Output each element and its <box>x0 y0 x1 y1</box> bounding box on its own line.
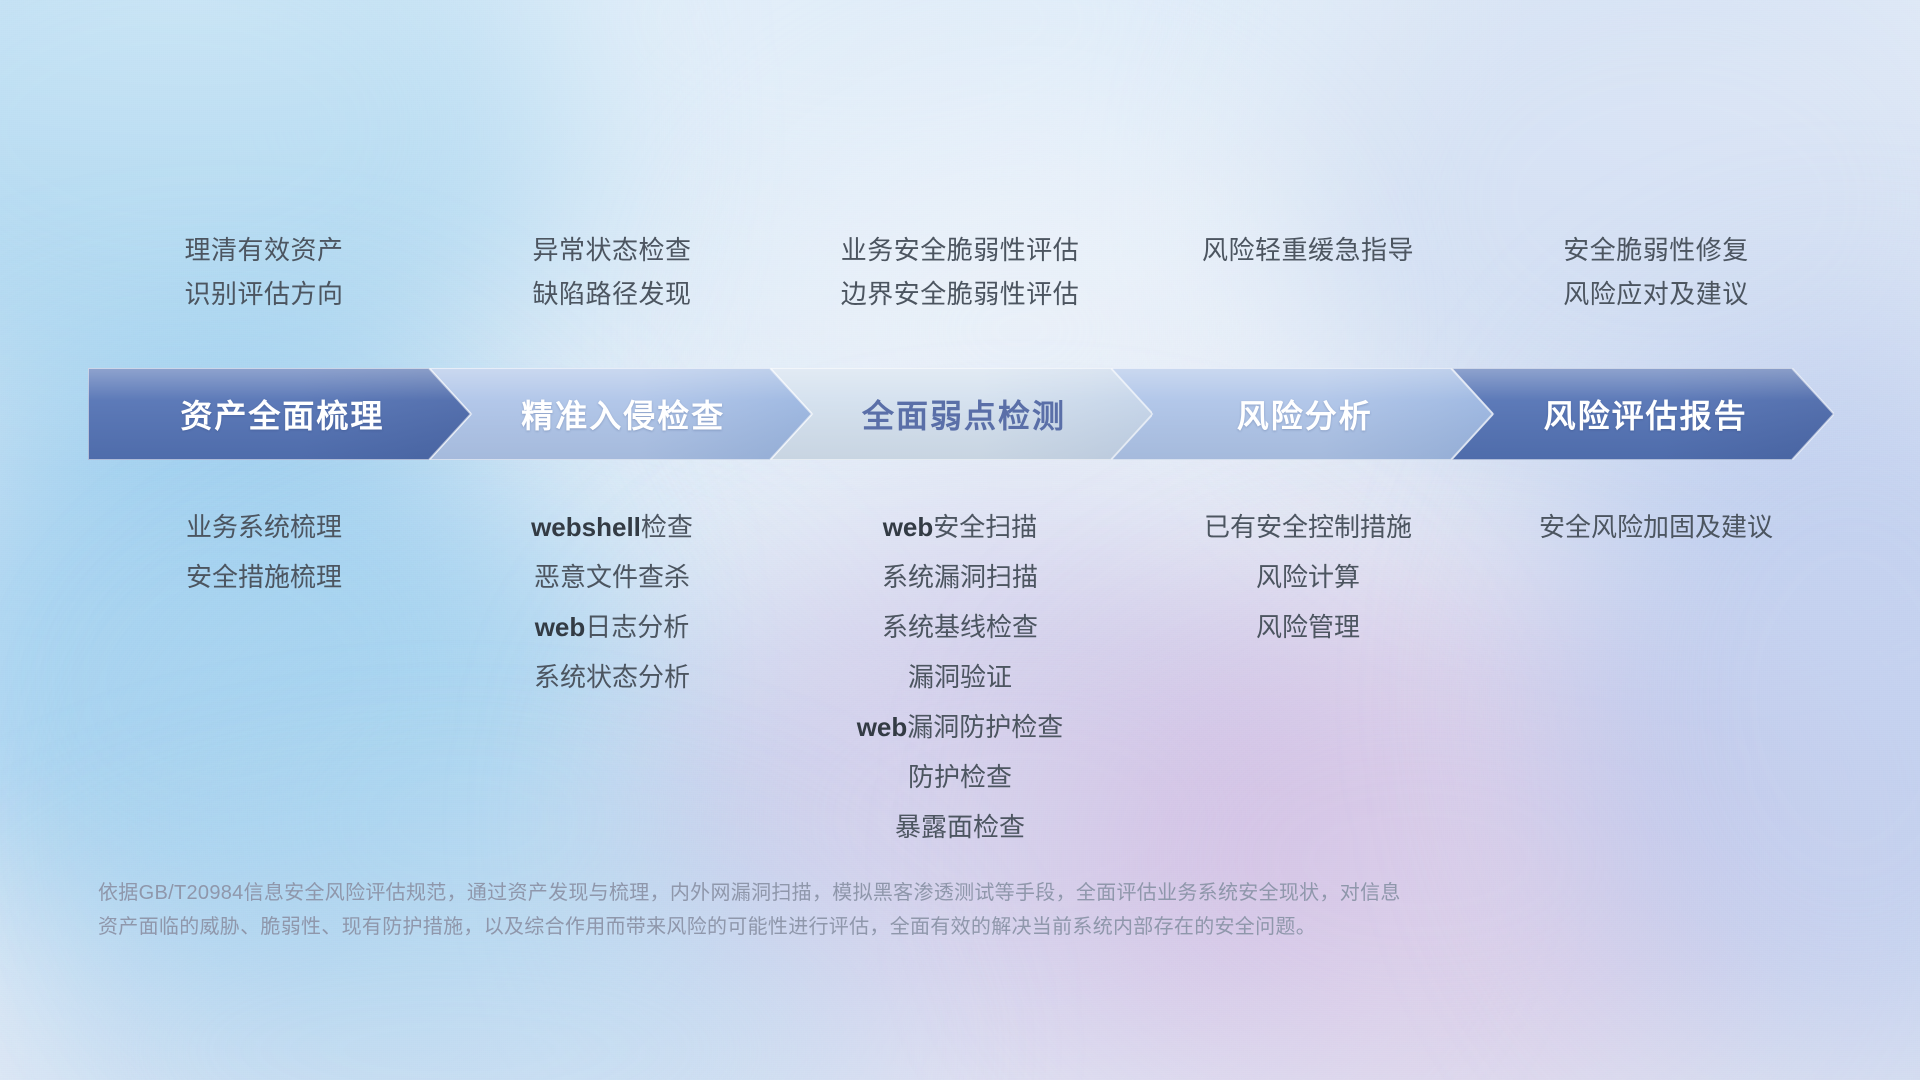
top-caption-col-risk-report: 安全脆弱性修复风险应对及建议 <box>1482 228 1830 316</box>
bottom-caption: 防护检查 <box>786 752 1134 802</box>
top-caption: 异常状态检查 <box>438 228 786 272</box>
bottom-caption-text: 漏洞防护检查 <box>907 712 1063 742</box>
bottom-caption-latin: web <box>535 612 586 642</box>
top-caption: 识别评估方向 <box>90 272 438 316</box>
slide-canvas: 理清有效资产识别评估方向异常状态检查缺陷路径发现业务安全脆弱性评估边界安全脆弱性… <box>0 0 1920 1080</box>
footer-line-2: 资产面临的威胁、脆弱性、现有防护措施，以及综合作用而带来风险的可能性进行评估，全… <box>98 910 1658 944</box>
bottom-caption-col-weakness-detection: web安全扫描系统漏洞扫描系统基线检查漏洞验证web漏洞防护检查防护检查暴露面检… <box>786 502 1134 852</box>
top-caption-row: 理清有效资产识别评估方向异常状态检查缺陷路径发现业务安全脆弱性评估边界安全脆弱性… <box>90 228 1830 316</box>
process-step-asset-inventory[interactable]: 资产全面梳理 <box>88 368 471 460</box>
bottom-caption-col-asset-inventory: 业务系统梳理安全措施梳理 <box>90 502 438 852</box>
bottom-caption: 系统基线检查 <box>786 602 1134 652</box>
bottom-caption: 已有安全控制措施 <box>1134 502 1482 552</box>
bottom-caption-latin: webshell <box>531 512 641 542</box>
top-caption: 理清有效资产 <box>90 228 438 272</box>
process-step-intrusion-check[interactable]: 精准入侵检查 <box>429 368 812 460</box>
step-label: 精准入侵检查 <box>515 391 725 437</box>
step-label: 资产全面梳理 <box>174 391 384 437</box>
top-caption: 边界安全脆弱性评估 <box>786 272 1134 316</box>
bottom-caption: 风险计算 <box>1134 552 1482 602</box>
bottom-caption-latin: web <box>857 712 908 742</box>
process-arrow-band: 资产全面梳理 精准入侵检查 <box>88 368 1834 460</box>
bottom-caption-text: 检查 <box>641 512 693 542</box>
bottom-caption: 系统漏洞扫描 <box>786 552 1134 602</box>
slide-content: 理清有效资产识别评估方向异常状态检查缺陷路径发现业务安全脆弱性评估边界安全脆弱性… <box>0 0 1920 1080</box>
bottom-caption: 业务系统梳理 <box>90 502 438 552</box>
process-step-risk-analysis[interactable]: 风险分析 <box>1110 368 1493 460</box>
bottom-caption: 系统状态分析 <box>438 652 786 702</box>
bottom-caption-col-risk-report: 安全风险加固及建议 <box>1482 502 1830 852</box>
top-caption: 风险轻重缓急指导 <box>1134 228 1482 272</box>
top-caption: 安全脆弱性修复 <box>1482 228 1830 272</box>
bottom-caption-text: 安全扫描 <box>933 512 1037 542</box>
bottom-caption-text: 日志分析 <box>585 612 689 642</box>
step-label: 风险评估报告 <box>1538 391 1748 437</box>
bottom-caption: web安全扫描 <box>786 502 1134 552</box>
bottom-caption: 暴露面检查 <box>786 802 1134 852</box>
process-step-weakness-detection[interactable]: 全面弱点检测 <box>770 368 1153 460</box>
top-caption-col-asset-inventory: 理清有效资产识别评估方向 <box>90 228 438 316</box>
bottom-caption-row: 业务系统梳理安全措施梳理webshell检查恶意文件查杀web日志分析系统状态分… <box>90 502 1830 852</box>
top-caption: 业务安全脆弱性评估 <box>786 228 1134 272</box>
bottom-caption-col-intrusion-check: webshell检查恶意文件查杀web日志分析系统状态分析 <box>438 502 786 852</box>
bottom-caption-col-risk-analysis: 已有安全控制措施风险计算风险管理 <box>1134 502 1482 852</box>
top-caption-col-weakness-detection: 业务安全脆弱性评估边界安全脆弱性评估 <box>786 228 1134 316</box>
top-caption: 缺陷路径发现 <box>438 272 786 316</box>
bottom-caption: 恶意文件查杀 <box>438 552 786 602</box>
bottom-caption: web漏洞防护检查 <box>786 702 1134 752</box>
top-caption-col-intrusion-check: 异常状态检查缺陷路径发现 <box>438 228 786 316</box>
step-label: 全面弱点检测 <box>856 391 1066 437</box>
bottom-caption-latin: web <box>883 512 934 542</box>
footer-line-1: 依据GB/T20984信息安全风险评估规范，通过资产发现与梳理，内外网漏洞扫描，… <box>98 876 1658 910</box>
step-label: 风险分析 <box>1231 391 1373 437</box>
process-step-risk-report[interactable]: 风险评估报告 <box>1451 368 1834 460</box>
bottom-caption: web日志分析 <box>438 602 786 652</box>
bottom-caption: 安全风险加固及建议 <box>1482 502 1830 552</box>
bottom-caption: webshell检查 <box>438 502 786 552</box>
bottom-caption: 风险管理 <box>1134 602 1482 652</box>
bottom-caption: 安全措施梳理 <box>90 552 438 602</box>
top-caption-col-risk-analysis: 风险轻重缓急指导 <box>1134 228 1482 316</box>
bottom-caption: 漏洞验证 <box>786 652 1134 702</box>
footer-description: 依据GB/T20984信息安全风险评估规范，通过资产发现与梳理，内外网漏洞扫描，… <box>98 876 1658 944</box>
top-caption: 风险应对及建议 <box>1482 272 1830 316</box>
